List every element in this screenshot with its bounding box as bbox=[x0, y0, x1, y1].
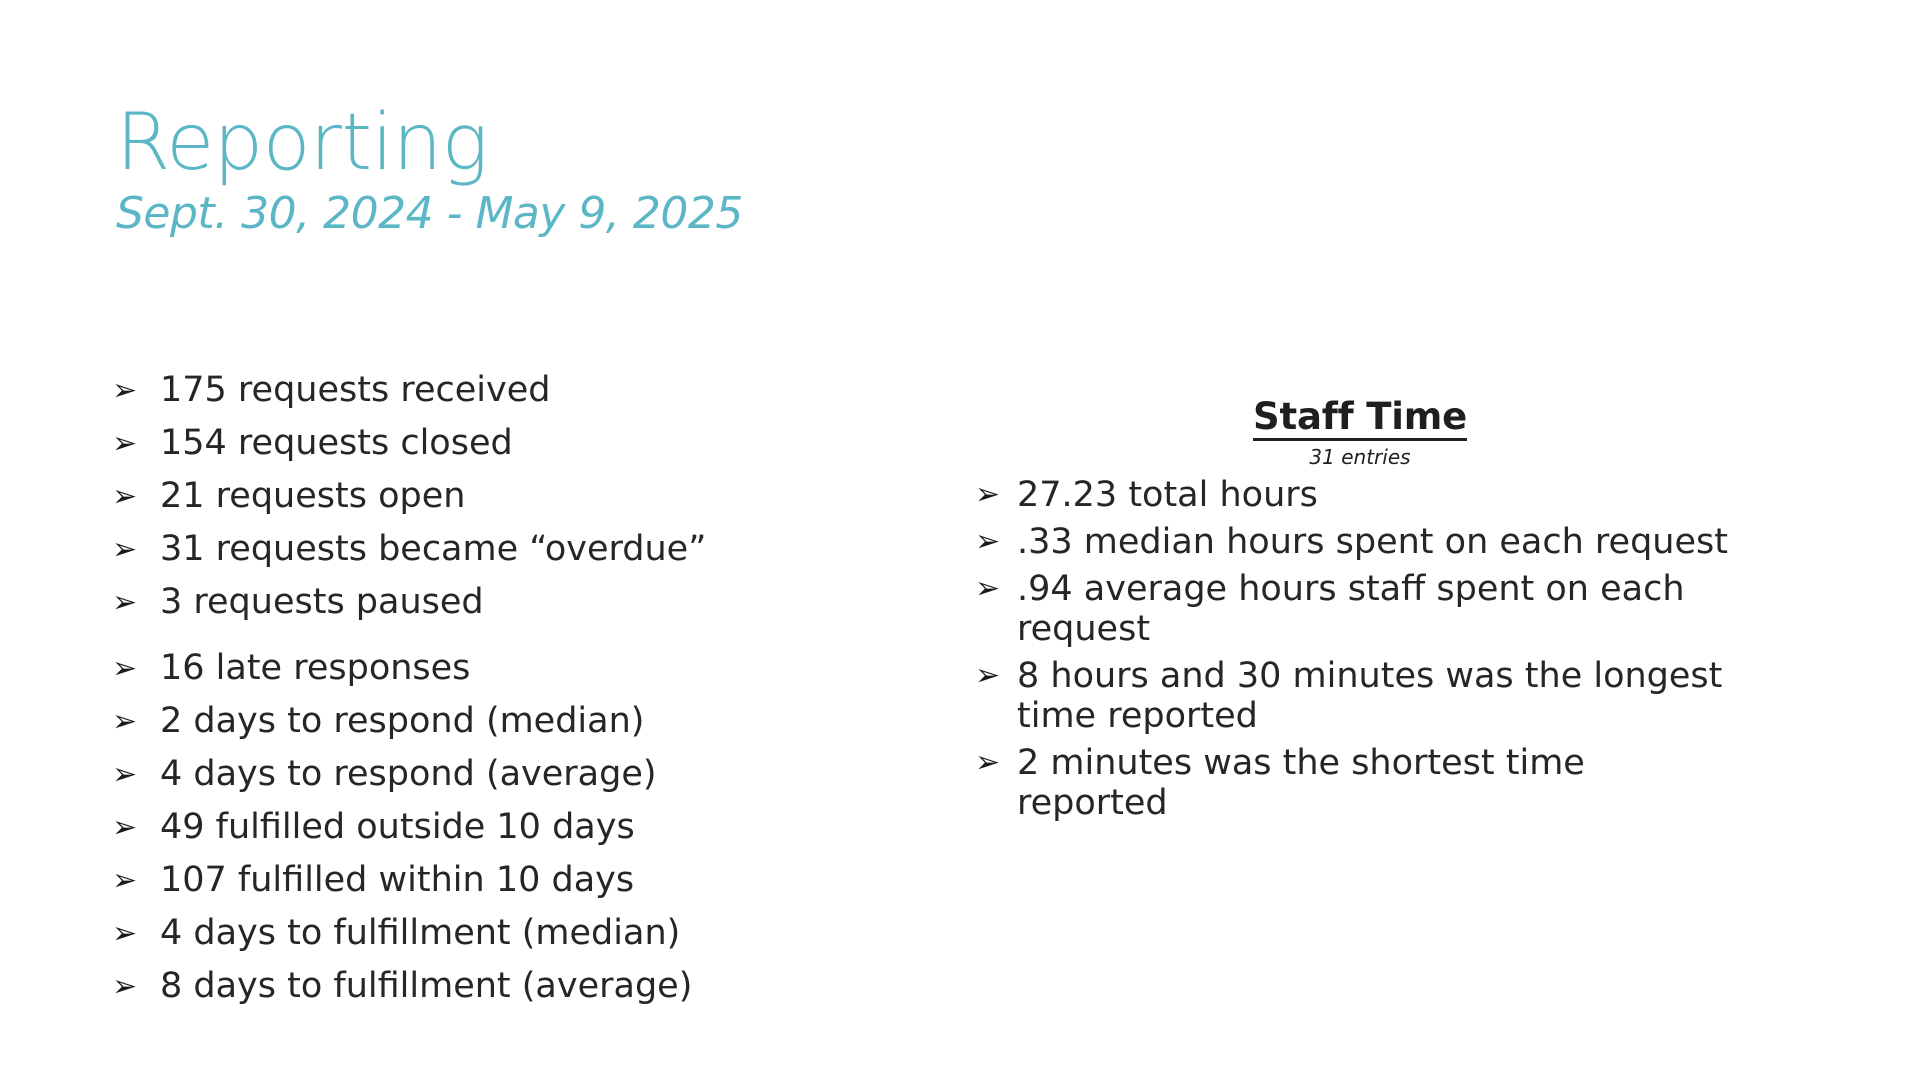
list-item: ➢ 27.23 total hours bbox=[975, 475, 1745, 515]
arrow-bullet-icon: ➢ bbox=[112, 854, 160, 907]
arrow-bullet-icon: ➢ bbox=[975, 522, 1017, 562]
list-item-label: 16 late responses bbox=[160, 642, 872, 695]
arrow-bullet-icon: ➢ bbox=[112, 470, 160, 523]
left-statistics-column: ➢ 175 requests received ➢ 154 requests c… bbox=[112, 364, 872, 1013]
list-item: ➢ 154 requests closed bbox=[112, 417, 872, 470]
slide-canvas: Reporting Sept. 30, 2024 - May 9, 2025 ➢… bbox=[0, 0, 1920, 1080]
arrow-bullet-icon: ➢ bbox=[112, 523, 160, 576]
list-item-label: 107 fulfilled within 10 days bbox=[160, 854, 872, 907]
page-subtitle: Sept. 30, 2024 - May 9, 2025 bbox=[116, 190, 1116, 238]
arrow-bullet-icon: ➢ bbox=[112, 576, 160, 629]
list-item: ➢ 2 minutes was the shortest time report… bbox=[975, 743, 1745, 823]
list-item-label: 4 days to fulfillment (median) bbox=[160, 907, 872, 960]
list-item-label: 8 days to fulfillment (average) bbox=[160, 960, 872, 1013]
list-item-label: 175 requests received bbox=[160, 364, 872, 417]
title-block: Reporting Sept. 30, 2024 - May 9, 2025 bbox=[116, 104, 1116, 238]
arrow-bullet-icon: ➢ bbox=[112, 748, 160, 801]
list-item-label: 21 requests open bbox=[160, 470, 872, 523]
list-item: ➢ 2 days to respond (median) bbox=[112, 695, 872, 748]
arrow-bullet-icon: ➢ bbox=[112, 801, 160, 854]
list-item: ➢ .33 median hours spent on each request bbox=[975, 522, 1745, 562]
arrow-bullet-icon: ➢ bbox=[112, 417, 160, 470]
list-item: ➢ 4 days to fulfillment (median) bbox=[112, 907, 872, 960]
arrow-bullet-icon: ➢ bbox=[975, 743, 1017, 783]
list-item: ➢ 8 days to fulfillment (average) bbox=[112, 960, 872, 1013]
list-item: ➢ .94 average hours staff spent on each … bbox=[975, 569, 1745, 649]
list-item-label: .94 average hours staff spent on each re… bbox=[1017, 569, 1745, 649]
arrow-bullet-icon: ➢ bbox=[112, 960, 160, 1013]
arrow-bullet-icon: ➢ bbox=[975, 656, 1017, 696]
list-item: ➢ 4 days to respond (average) bbox=[112, 748, 872, 801]
list-item-label: .33 median hours spent on each request bbox=[1017, 522, 1745, 562]
list-item: ➢ 16 late responses bbox=[112, 642, 872, 695]
list-item-label: 49 fulfilled outside 10 days bbox=[160, 801, 872, 854]
list-item-label: 4 days to respond (average) bbox=[160, 748, 872, 801]
list-item: ➢ 107 fulfilled within 10 days bbox=[112, 854, 872, 907]
arrow-bullet-icon: ➢ bbox=[975, 569, 1017, 609]
staff-time-list: ➢ 27.23 total hours ➢ .33 median hours s… bbox=[975, 475, 1745, 823]
list-item-label: 2 minutes was the shortest time reported bbox=[1017, 743, 1745, 823]
list-group-divider bbox=[112, 629, 872, 642]
list-item: ➢ 21 requests open bbox=[112, 470, 872, 523]
arrow-bullet-icon: ➢ bbox=[112, 642, 160, 695]
list-item: ➢ 49 fulfilled outside 10 days bbox=[112, 801, 872, 854]
list-item: ➢ 31 requests became “overdue” bbox=[112, 523, 872, 576]
list-item-label: 8 hours and 30 minutes was the longest t… bbox=[1017, 656, 1745, 736]
request-counts-list: ➢ 175 requests received ➢ 154 requests c… bbox=[112, 364, 872, 629]
staff-time-heading: Staff Time bbox=[975, 398, 1745, 441]
staff-time-column: Staff Time 31 entries ➢ 27.23 total hour… bbox=[975, 398, 1745, 830]
staff-time-heading-label: Staff Time bbox=[1253, 398, 1467, 441]
list-item-label: 31 requests became “overdue” bbox=[160, 523, 872, 576]
arrow-bullet-icon: ➢ bbox=[112, 364, 160, 417]
list-item: ➢ 8 hours and 30 minutes was the longest… bbox=[975, 656, 1745, 736]
staff-time-entry-count: 31 entries bbox=[975, 446, 1745, 468]
response-times-list: ➢ 16 late responses ➢ 2 days to respond … bbox=[112, 642, 872, 1013]
list-item: ➢ 175 requests received bbox=[112, 364, 872, 417]
list-item-label: 27.23 total hours bbox=[1017, 475, 1745, 515]
list-item-label: 3 requests paused bbox=[160, 576, 872, 629]
page-title: Reporting bbox=[116, 104, 1116, 182]
list-item-label: 2 days to respond (median) bbox=[160, 695, 872, 748]
arrow-bullet-icon: ➢ bbox=[112, 695, 160, 748]
arrow-bullet-icon: ➢ bbox=[975, 475, 1017, 515]
arrow-bullet-icon: ➢ bbox=[112, 907, 160, 960]
list-item-label: 154 requests closed bbox=[160, 417, 872, 470]
list-item: ➢ 3 requests paused bbox=[112, 576, 872, 629]
